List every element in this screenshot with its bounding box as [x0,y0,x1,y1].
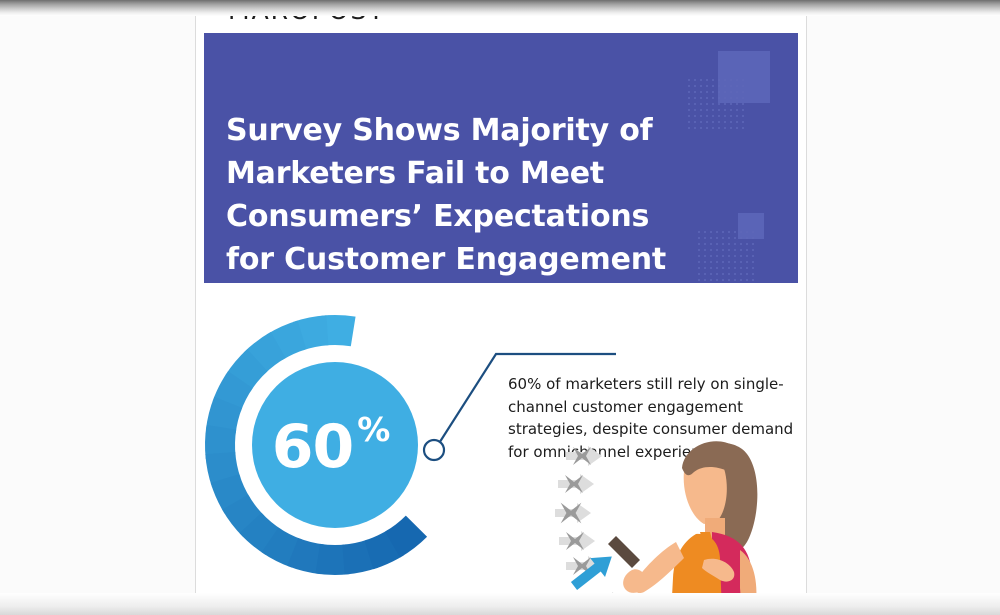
page-title: Survey Shows Majority of Marketers Fail … [226,109,726,281]
page-rule-right [806,0,807,615]
hero-banner: Survey Shows Majority of Marketers Fail … [204,33,798,283]
title-line-3: Consumers’ Expectations [226,195,726,238]
title-line-2: Marketers Fail to Meet [226,152,726,195]
page-gutter-left [0,0,196,615]
maropost-logo[interactable]: MAROPOST [228,0,386,25]
page-gutter-right [806,0,1000,615]
article-card: MAROPOST Survey Shows Majority of Market… [196,0,806,615]
title-line-4: for Customer Engagement [226,238,726,281]
infographic-canvas: MAROPOST Survey Shows Majority of Market… [0,0,1000,615]
highlight-arrow [567,547,620,595]
illustration-woman-with-smartphone [544,438,806,615]
title-line-1: Survey Shows Majority of [226,109,726,152]
connector-marker-dot [424,440,444,460]
woman-figure [608,441,757,615]
